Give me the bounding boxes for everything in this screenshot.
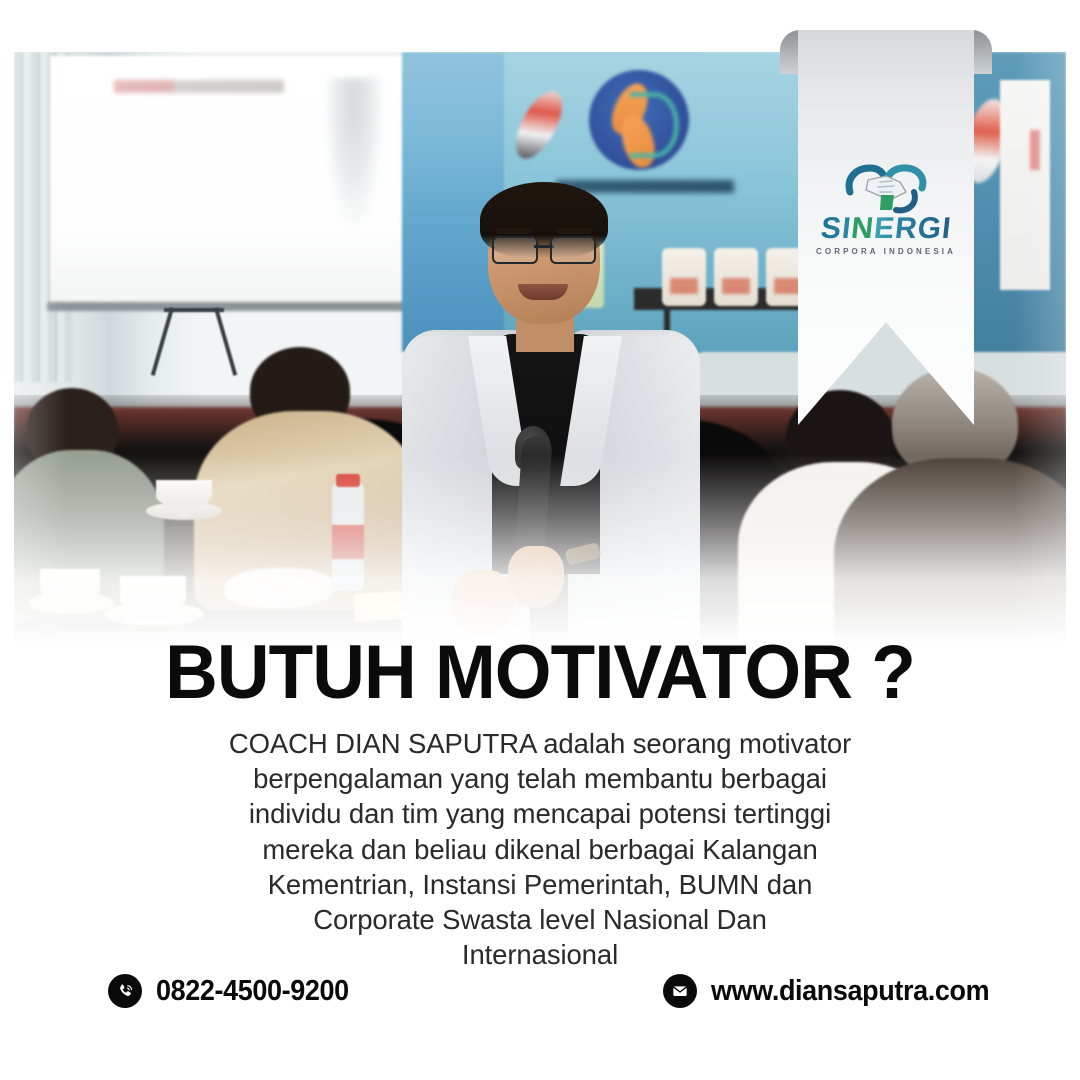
product-sack-2 [714,248,758,306]
koi-logo-waves [630,92,679,158]
speaker-figure [396,174,696,644]
eyeglasses-icon [492,236,596,260]
body-line: individu dan tim yang mencapai potensi t… [160,796,920,831]
website-contact[interactable]: www.diansaputra.com [663,974,1010,1008]
ribbon-bookmark: SINERGI CORPORA INDONESIA [780,22,992,425]
envelope-circle-icon [663,974,697,1008]
water-bottle [332,483,364,591]
koi-fish-left [507,84,572,165]
brow-left [496,228,532,234]
coffee-cup-3 [156,480,212,508]
logo-word-part-1: SI [819,212,853,245]
logo-subtitle: CORPORA INDONESIA [816,247,956,256]
coffee-cup-1 [40,569,100,603]
body-line: COACH DIAN SAPUTRA adalah seorang motiva… [160,726,920,761]
phone-circle-icon [108,974,142,1008]
projector-screen-bottom-bar [47,302,430,311]
poster-canvas: SINERGI CORPORA INDONESIA BUTUH MOTIVATO… [0,0,1080,1080]
coffee-cup-2 [120,576,186,614]
sinergi-logo: SINERGI CORPORA INDONESIA [798,162,974,274]
handshake-icon [840,162,932,214]
audience-member-2 [194,347,414,597]
logo-word-part-2: ERGI [872,212,953,245]
body-line: Kementrian, Instansi Pemerintah, BUMN da… [160,867,920,902]
phone-contact[interactable]: 0822-4500-9200 [108,974,363,1008]
website-url: www.diansaputra.com [711,975,989,1008]
brow-right [556,228,592,234]
body-line: mereka dan beliau dikenal berbagai Kalan… [160,832,920,867]
koi-logo-circle [589,70,689,170]
wall-poster-accent [1030,130,1040,170]
napkin [224,568,334,608]
slide-graphic-blur [325,78,383,228]
body-line: Corporate Swasta level Nasional Dan [160,902,920,937]
wall-poster-strip [1000,80,1050,290]
projector-screen [50,56,425,304]
logo-wordmark: SINERGI [819,214,953,244]
hand-holding-mic [508,546,564,608]
contact-bar: 0822-4500-9200 www.diansaputra.com [108,966,1010,1016]
free-hand [452,570,514,636]
logo-word-green: N [849,212,875,245]
phone-number: 0822-4500-9200 [156,975,349,1008]
slide-text-blur [114,80,284,93]
page-title: BUTUH MOTIVATOR ? [22,634,1059,712]
description-paragraph: COACH DIAN SAPUTRA adalah seorang motiva… [160,726,920,972]
body-line: berpengalaman yang telah membantu berbag… [160,761,920,796]
